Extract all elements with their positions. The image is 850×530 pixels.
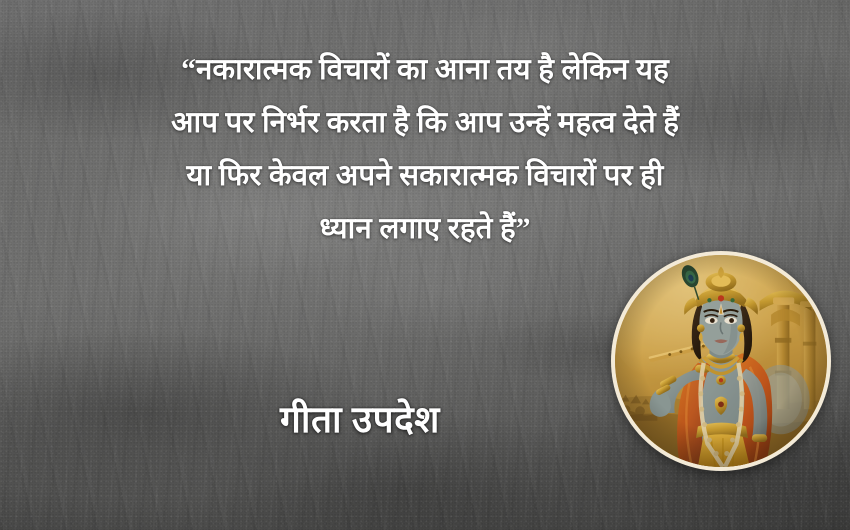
attribution-label: गीता उपदेश <box>115 392 605 443</box>
krishna-portrait-art <box>615 255 827 467</box>
quote-line-3: या फिर केवल अपने सकारात्मक विचारों पर ही <box>40 150 810 203</box>
quote-line-4: ध्यान लगाए रहते हैं” <box>40 203 810 256</box>
quote-text-block: “नकारात्मक विचारों का आना तय है लेकिन यह… <box>40 44 810 256</box>
quote-line-1: “नकारात्मक विचारों का आना तय है लेकिन यह <box>40 44 810 97</box>
quote-card: “नकारात्मक विचारों का आना तय है लेकिन यह… <box>0 0 850 530</box>
krishna-portrait <box>611 251 831 471</box>
quote-line-2: आप पर निर्भर करता है कि आप उन्हें महत्व … <box>40 97 810 150</box>
